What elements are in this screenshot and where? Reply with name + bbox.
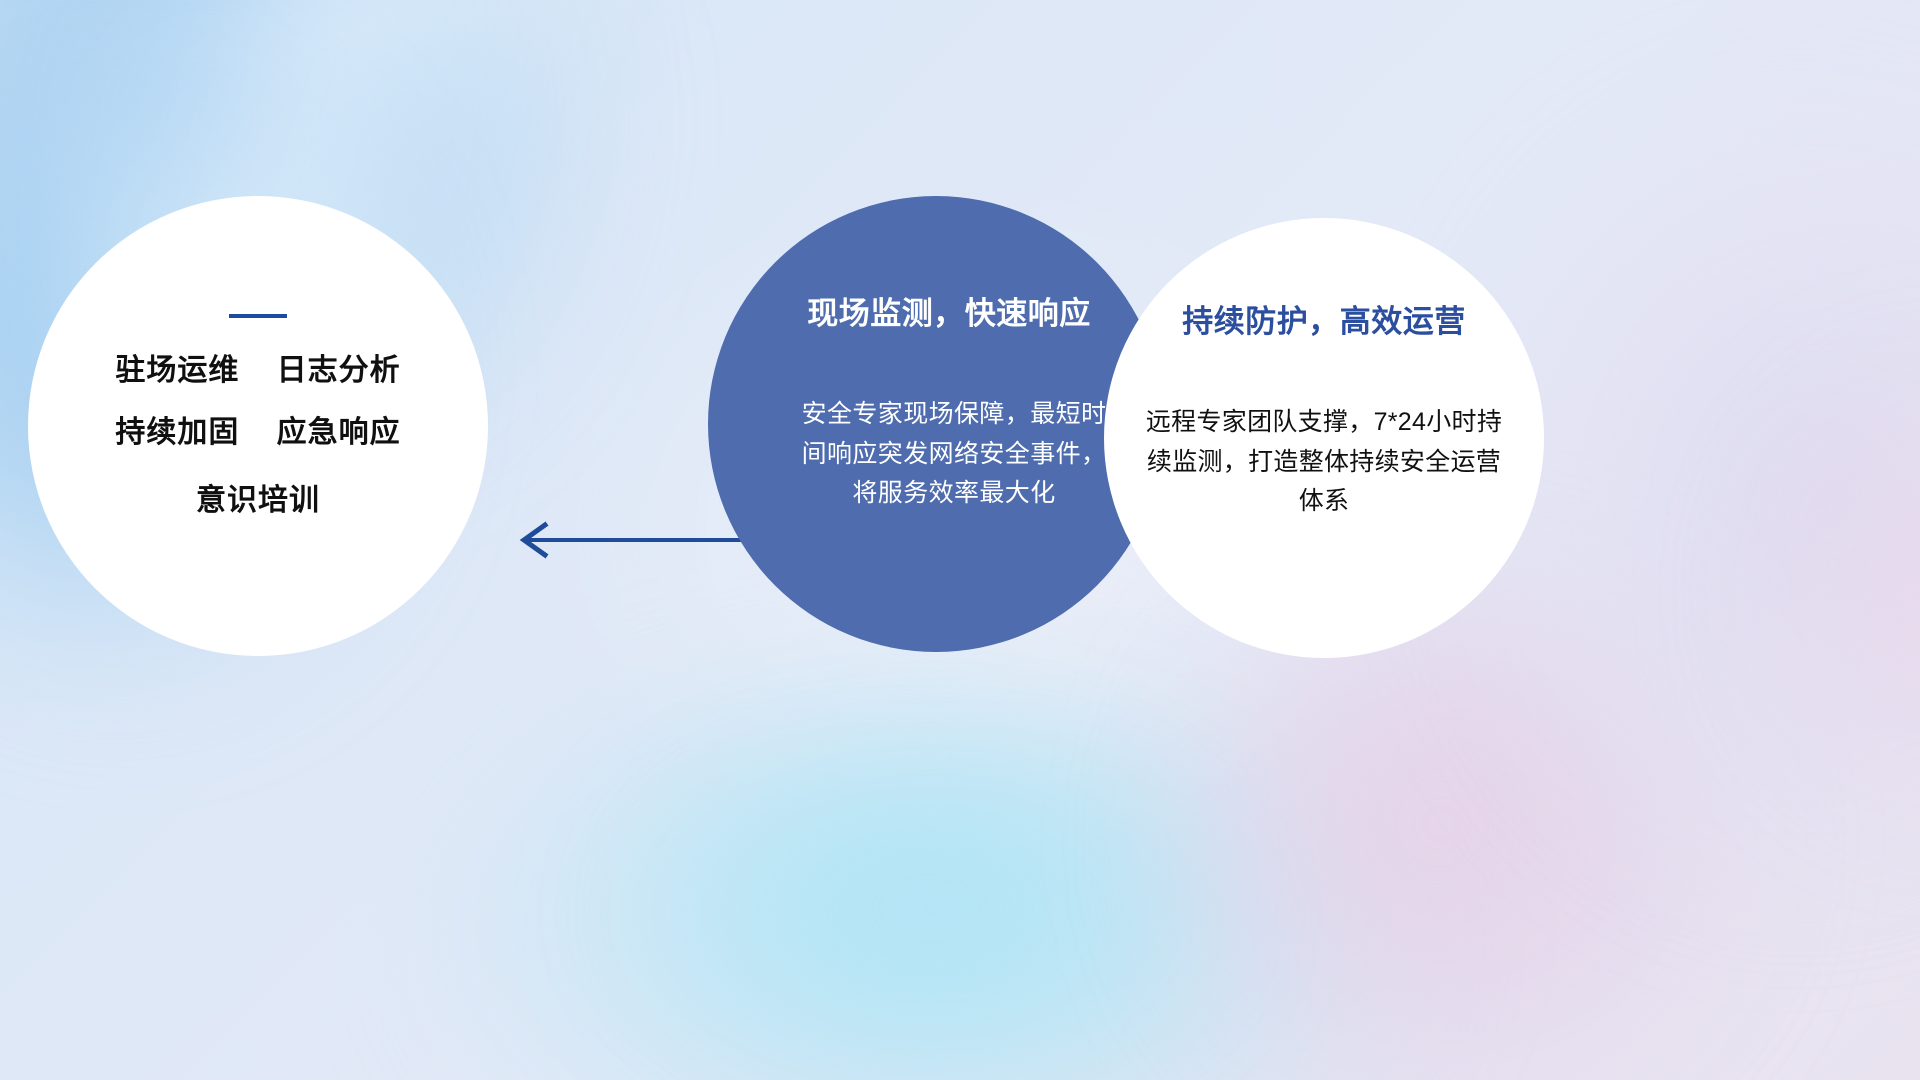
middle-circle-body: 安全专家现场保障，最短时间响应突发网络安全事件，将服务效率最大化: [795, 395, 1113, 514]
middle-onsite-circle[interactable]: 现场监测，快速响应 安全专家现场保障，最短时间响应突发网络安全事件，将服务效率最…: [708, 196, 1164, 652]
left-circle-content: 驻场运维 日志分析 持续加固 应急响应 意识培训: [28, 196, 488, 516]
right-operations-circle[interactable]: 持续防护，高效运营 远程专家团队支撑，7*24小时持续监测，打造整体持续安全运营…: [1104, 218, 1544, 658]
left-capability-circle[interactable]: 驻场运维 日志分析 持续加固 应急响应 意识培训: [28, 196, 488, 656]
right-circle-title: 持续防护，高效运营: [1182, 296, 1466, 341]
left-line-1: 驻场运维 日志分析: [115, 356, 400, 386]
divider-dash: [229, 314, 287, 318]
left-line-2: 持续加固 应急响应: [115, 418, 400, 448]
right-circle-content: 持续防护，高效运营 远程专家团队支撑，7*24小时持续监测，打造整体持续安全运营…: [1104, 218, 1544, 522]
left-line-3: 意识培训: [196, 486, 320, 516]
slide-canvas: 驻场运维 日志分析 持续加固 应急响应 意识培训 现场监测，快速响应 安全专家现…: [0, 0, 1920, 1080]
right-circle-body: 远程专家团队支撑，7*24小时持续监测，打造整体持续安全运营体系: [1138, 403, 1510, 522]
middle-circle-title: 现场监测，快速响应: [807, 288, 1091, 333]
middle-circle-content: 现场监测，快速响应 安全专家现场保障，最短时间响应突发网络安全事件，将服务效率最…: [708, 196, 1164, 514]
